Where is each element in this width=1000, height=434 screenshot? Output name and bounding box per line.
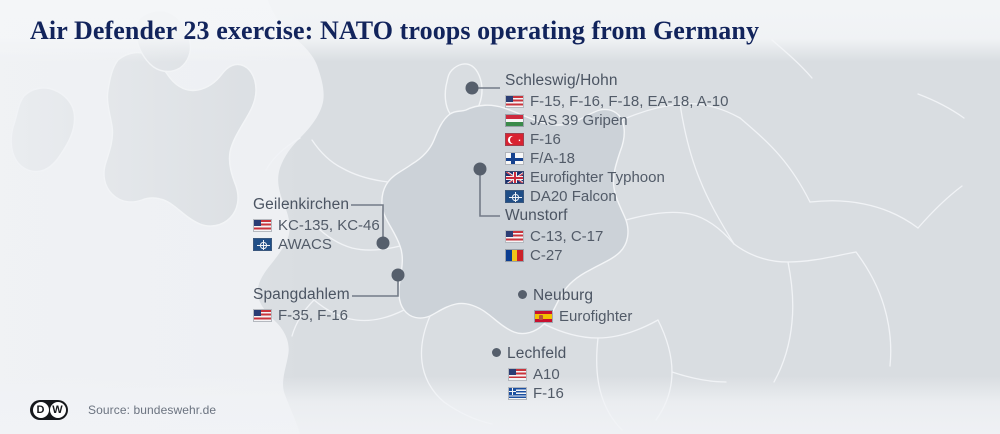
marker-neuburg bbox=[518, 290, 527, 299]
unit-row: F-15, F-16, F-18, EA-18, A-10 bbox=[505, 92, 728, 111]
unit-row: F-35, F-16 bbox=[253, 306, 350, 325]
unit-row: KC-135, KC-46 bbox=[253, 216, 380, 235]
flag-turkey-icon bbox=[505, 133, 524, 146]
flag-united-states-icon bbox=[253, 219, 272, 232]
base-name: Neuburg bbox=[533, 287, 593, 304]
base-name: Geilenkirchen bbox=[253, 196, 380, 214]
aircraft-label: Eurofighter Typhoon bbox=[530, 168, 665, 187]
unit-row: F-16 bbox=[508, 384, 566, 403]
aircraft-label: C-27 bbox=[530, 246, 563, 265]
flag-united-states-icon bbox=[508, 368, 527, 381]
unit-list: F-35, F-16 bbox=[253, 306, 350, 325]
base-label-wunstorf[interactable]: Wunstorf C-13, C-17 C-27 bbox=[505, 207, 603, 265]
base-name-row: Lechfeld bbox=[492, 345, 566, 363]
aircraft-label: F-16 bbox=[533, 384, 564, 403]
aircraft-label: F/A-18 bbox=[530, 149, 575, 168]
flag-nato-icon bbox=[253, 238, 272, 251]
unit-list: C-13, C-17 C-27 bbox=[505, 227, 603, 265]
dw-logo-letter-d: D bbox=[33, 402, 49, 418]
source-credit: Source: bundeswehr.de bbox=[88, 403, 216, 417]
unit-list: KC-135, KC-46 AWACS bbox=[253, 216, 380, 254]
flag-greece-icon bbox=[508, 387, 527, 400]
base-name: Spangdahlem bbox=[253, 286, 350, 304]
unit-list: A10 F-16 bbox=[508, 365, 566, 403]
aircraft-label: A10 bbox=[533, 365, 560, 384]
base-label-lechfeld[interactable]: Lechfeld A10 F-16 bbox=[492, 345, 566, 403]
unit-row: Eurofighter Typhoon bbox=[505, 168, 728, 187]
aircraft-label: Eurofighter bbox=[559, 307, 632, 326]
base-label-neuburg[interactable]: Neuburg Eurofighter bbox=[518, 287, 632, 326]
aircraft-label: DA20 Falcon bbox=[530, 187, 617, 206]
base-name: Lechfeld bbox=[507, 345, 566, 362]
unit-row: C-13, C-17 bbox=[505, 227, 603, 246]
flag-united-states-icon bbox=[505, 230, 524, 243]
base-name-row: Neuburg bbox=[518, 287, 632, 305]
base-label-schleswig-hohn[interactable]: Schleswig/Hohn F-15, F-16, F-18, EA-18, … bbox=[505, 72, 728, 206]
flag-united-states-icon bbox=[253, 309, 272, 322]
unit-row: F-16 bbox=[505, 130, 728, 149]
flag-hungary-icon bbox=[505, 114, 524, 127]
aircraft-label: F-16 bbox=[530, 130, 561, 149]
flag-finland-icon bbox=[505, 152, 524, 165]
aircraft-label: AWACS bbox=[278, 235, 332, 254]
unit-row: JAS 39 Gripen bbox=[505, 111, 728, 130]
aircraft-label: C-13, C-17 bbox=[530, 227, 603, 246]
dw-logo-letter-w: W bbox=[50, 402, 66, 418]
unit-row: AWACS bbox=[253, 235, 380, 254]
aircraft-label: F-35, F-16 bbox=[278, 306, 348, 325]
base-name: Wunstorf bbox=[505, 207, 603, 225]
flag-spain-icon bbox=[534, 310, 553, 323]
unit-row: F/A-18 bbox=[505, 149, 728, 168]
flag-romania-icon bbox=[505, 249, 524, 262]
unit-row: Eurofighter bbox=[534, 307, 632, 326]
dw-logo-icon: D W bbox=[30, 400, 68, 420]
base-name: Schleswig/Hohn bbox=[505, 72, 728, 90]
unit-row: DA20 Falcon bbox=[505, 187, 728, 206]
unit-list: Eurofighter bbox=[534, 307, 632, 326]
flag-united-kingdom-icon bbox=[505, 171, 524, 184]
base-label-geilenkirchen[interactable]: Geilenkirchen KC-135, KC-46 AWACS bbox=[253, 196, 380, 254]
aircraft-label: JAS 39 Gripen bbox=[530, 111, 628, 130]
marker-lechfeld bbox=[492, 348, 501, 357]
infographic-map: Air Defender 23 exercise: NATO troops op… bbox=[0, 0, 1000, 434]
unit-row: A10 bbox=[508, 365, 566, 384]
footer: D W Source: bundeswehr.de bbox=[30, 400, 216, 420]
page-title: Air Defender 23 exercise: NATO troops op… bbox=[30, 16, 759, 46]
base-label-spangdahlem[interactable]: Spangdahlem F-35, F-16 bbox=[253, 286, 350, 325]
unit-list: F-15, F-16, F-18, EA-18, A-10 JAS 39 Gri… bbox=[505, 92, 728, 206]
flag-united-states-icon bbox=[505, 95, 524, 108]
flag-nato-icon bbox=[505, 190, 524, 203]
aircraft-label: KC-135, KC-46 bbox=[278, 216, 380, 235]
unit-row: C-27 bbox=[505, 246, 603, 265]
aircraft-label: F-15, F-16, F-18, EA-18, A-10 bbox=[530, 92, 728, 111]
